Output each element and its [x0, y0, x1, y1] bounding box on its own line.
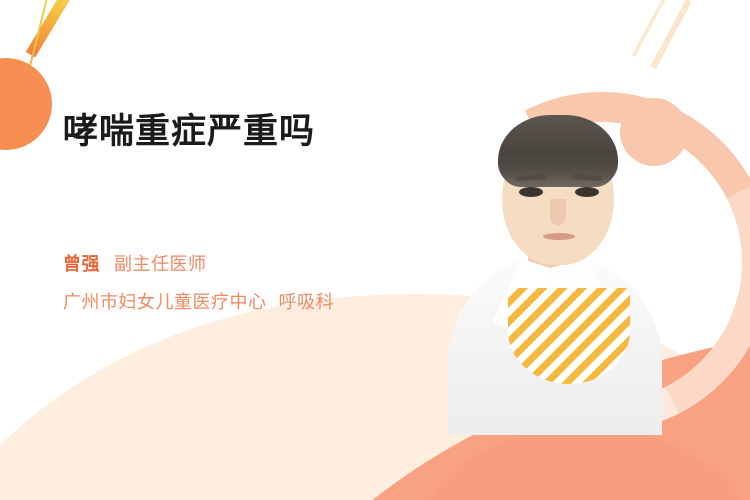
cream-diagonal-line-icon [632, 0, 668, 57]
eye-left [519, 187, 543, 197]
video-thumbnail-card: 哮喘重症严重吗 曾强副主任医师 广州市妇女儿童医疗中心呼吸科 [0, 0, 750, 500]
amber-diagonal-bar-icon [26, 0, 74, 58]
department-name: 呼吸科 [279, 292, 335, 312]
doctor-rank: 副主任医师 [114, 254, 207, 274]
doctor-name: 曾强 [63, 254, 100, 274]
orange-circle-decoration [0, 58, 52, 150]
doctor-byline: 曾强副主任医师 [63, 250, 207, 276]
page-title: 哮喘重症严重吗 [63, 112, 463, 152]
faint-diagonal-line-icon [144, 359, 163, 393]
hospital-name: 广州市妇女儿童医疗中心 [63, 292, 267, 312]
eye-right [575, 187, 599, 197]
cream-diagonal-line-icon [651, 0, 692, 69]
nose [550, 199, 566, 225]
title-block: 哮喘重症严重吗 [63, 112, 463, 152]
yellow-diagonal-line-icon [29, 0, 48, 65]
doctor-affiliation: 广州市妇女儿童医疗中心呼吸科 [63, 288, 334, 314]
mouth [543, 233, 575, 240]
coral-blob-decoration [420, 428, 750, 500]
